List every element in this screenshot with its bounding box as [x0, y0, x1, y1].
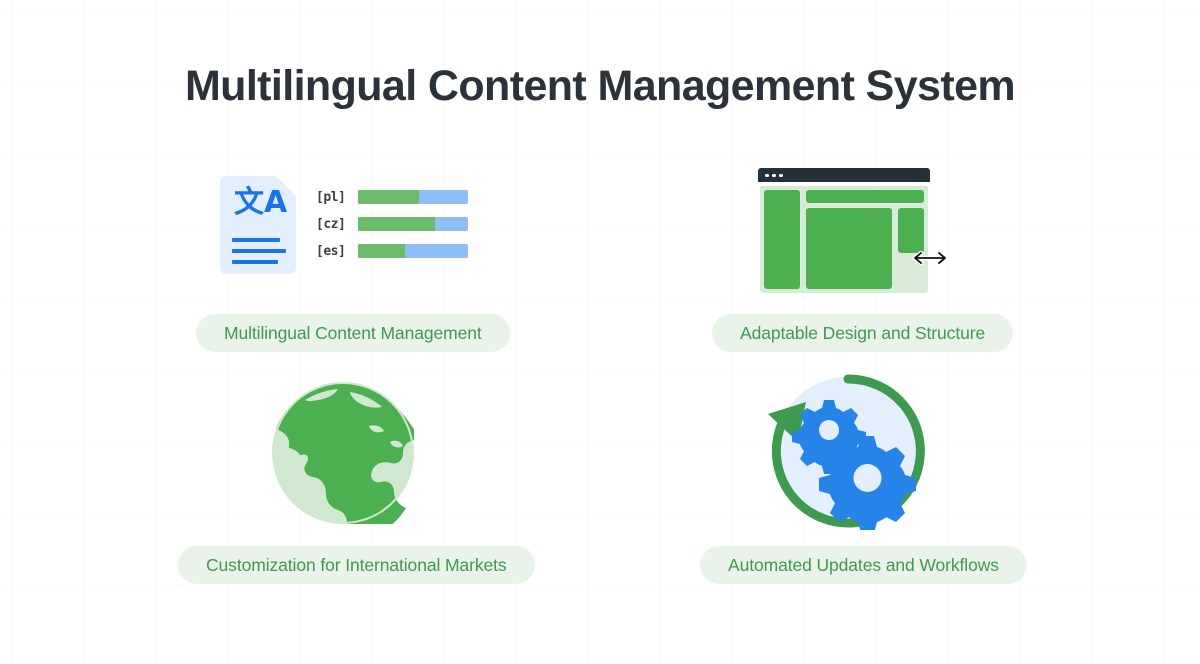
translate-document-icon: 文A [220, 176, 296, 274]
globe-icon [272, 382, 414, 524]
window-dot-icon [779, 174, 783, 178]
translate-glyph: 文A [234, 188, 287, 218]
layout-block-header [806, 190, 924, 203]
progress-track [358, 244, 468, 258]
language-code-label: [cz] [316, 217, 352, 232]
window-title-bar [758, 168, 930, 182]
layout-block-sidebar [764, 190, 800, 289]
progress-track [358, 190, 468, 204]
translation-progress-row: [es] [316, 244, 468, 258]
window-dot-icon [772, 174, 776, 178]
translation-progress-list: [pl] [cz] [es] [316, 190, 468, 271]
progress-track [358, 217, 468, 231]
browser-layout-icon [758, 168, 930, 293]
workflow-gears-icon [762, 372, 928, 530]
language-code-label: [es] [316, 244, 352, 259]
window-body [760, 186, 928, 293]
translation-progress-row: [cz] [316, 217, 468, 231]
label-multilingual-content-management: Multilingual Content Management [196, 314, 510, 352]
horizontal-resize-arrow-icon [912, 248, 948, 268]
label-automated-updates-and-workflows: Automated Updates and Workflows [700, 546, 1027, 584]
progress-fill [358, 244, 405, 258]
layout-block-aside [898, 208, 924, 253]
language-code-label: [pl] [316, 190, 352, 205]
window-dot-icon [765, 174, 769, 178]
document-text-line [232, 260, 278, 264]
page-title: Multilingual Content Management System [0, 62, 1200, 111]
label-customization-for-international-markets: Customization for International Markets [178, 546, 535, 584]
document-text-line [232, 238, 280, 242]
progress-fill [358, 217, 435, 231]
document-text-line [232, 249, 286, 253]
label-adaptable-design-and-structure: Adaptable Design and Structure [712, 314, 1013, 352]
layout-block-main [806, 208, 892, 289]
progress-fill [358, 190, 419, 204]
translation-progress-row: [pl] [316, 190, 468, 204]
